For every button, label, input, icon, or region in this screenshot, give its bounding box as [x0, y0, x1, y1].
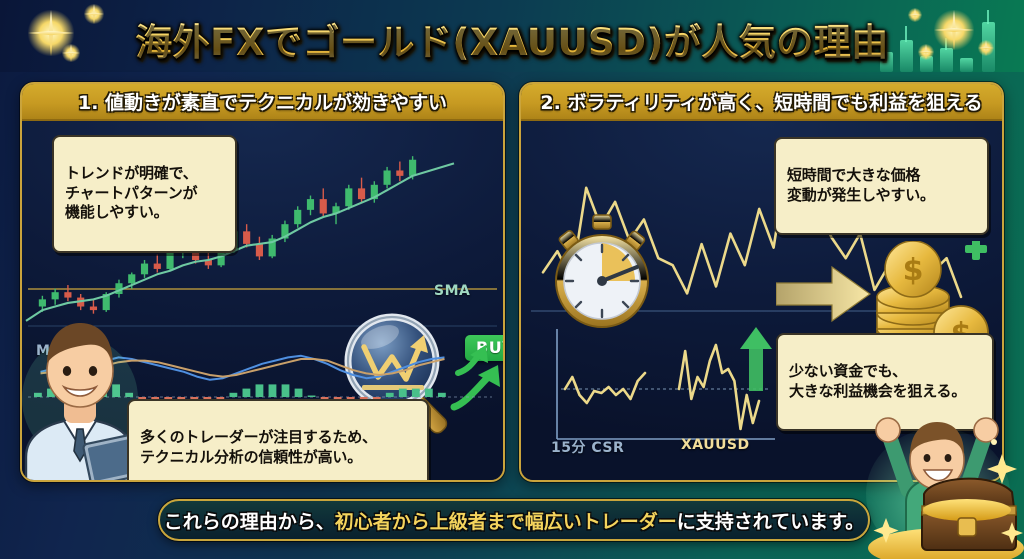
header-banner: 海外FXでゴールド(XAUUSD)が人気の理由	[0, 0, 1024, 72]
stopwatch-icon	[541, 211, 663, 333]
banner-lead: これらの理由から、	[164, 507, 335, 534]
sma-label: SMA	[434, 283, 470, 299]
panel-2-heading: 2. ボラティリティが高く、短時間でも利益を狙える	[540, 88, 982, 115]
volatility-bubble-text: 短時間で大きな価格 変動が発生しやすい。	[787, 166, 935, 204]
reason-panel-1: 1. 値動きが素直でテクニカルが効きやすい	[20, 82, 505, 482]
banner-tail: に支持されています。	[677, 507, 865, 534]
traders-bubble: 多くのトレーダーが注目するため、 テクニカル分析の信頼性が高い。	[127, 399, 429, 482]
arrow-right-icon	[776, 263, 872, 325]
trend-bubble: トレンドが明確で、 チャートパターンが 機能しやすい。	[52, 135, 237, 253]
traders-bubble-text: 多くのトレーダーが注目するため、 テクニカル分析の信頼性が高い。	[140, 428, 377, 466]
banner-highlight: 初心者から上級者まで幅広いトレーダー	[335, 507, 677, 534]
panel-2-heading-bar: 2. ボラティリティが高く、短時間でも利益を狙える	[521, 84, 1002, 121]
infographic-root: 海外FXでゴールド(XAUUSD)が人気の理由 1. 値動きが素直でテクニカルが…	[0, 0, 1024, 559]
trend-bubble-text: トレンドが明確で、 チャートパターンが 機能しやすい。	[65, 164, 198, 222]
summary-banner: これらの理由から、初心者から上級者まで幅広いトレーダーに支持されています。	[158, 499, 870, 541]
svg-text:$: $	[903, 253, 924, 288]
plus-icon	[965, 241, 987, 260]
compare-left-label: 15分 CSR	[551, 437, 624, 457]
volatility-bubble: 短時間で大きな価格 変動が発生しやすい。	[774, 137, 989, 235]
page-title: 海外FXでゴールド(XAUUSD)が人気の理由	[0, 12, 1024, 66]
businessman-with-tablet-figure	[20, 289, 138, 482]
celebrating-man-with-treasure-chest-figure	[866, 398, 1024, 559]
panel-1-heading-bar: 1. 値動きが素直でテクニカルが効きやすい	[22, 84, 503, 121]
panel-1-body: BUY SMA MACD	[22, 121, 503, 482]
profit-bubble-text: 少ない資金でも、 大きな利益機会を狙える。	[789, 362, 966, 400]
up-arrow-icon	[740, 327, 772, 391]
compare-right-label: XAUUSD	[681, 437, 750, 453]
panel-1-heading: 1. 値動きが素直でテクニカルが効きやすい	[78, 88, 447, 115]
